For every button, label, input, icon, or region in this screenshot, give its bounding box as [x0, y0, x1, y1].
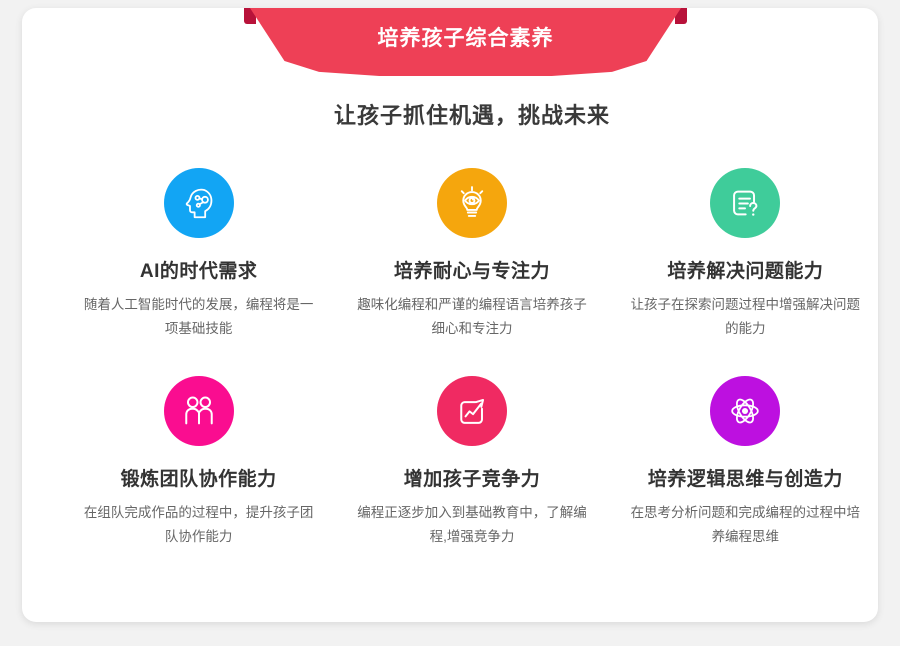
feature-card-focus: 培养耐心与专注力 趣味化编程和严谨的编程语言培养孩子细心和专注力 [335, 168, 608, 376]
page-subtitle: 让孩子抓住机遇，挑战未来 [22, 98, 900, 130]
document-question-icon-circle [710, 168, 780, 238]
lightbulb-eye-icon-circle [437, 168, 507, 238]
feature-desc: 让孩子在探索问题过程中增强解决问题的能力 [630, 293, 860, 340]
document-question-icon [726, 184, 764, 222]
ai-head-icon [180, 184, 218, 222]
feature-title: 培养耐心与专注力 [394, 256, 550, 283]
page-root: 培养孩子综合素养 让孩子抓住机遇，挑战未来 [0, 0, 900, 646]
feature-title: 锻炼团队协作能力 [121, 464, 277, 491]
feature-card-logic: 培养逻辑思维与创造力 在思考分析问题和完成编程的过程中培养编程思维 [609, 376, 882, 584]
ai-head-icon-circle [164, 168, 234, 238]
atom-icon [726, 392, 764, 430]
feature-desc: 在思考分析问题和完成编程的过程中培养编程思维 [630, 501, 860, 548]
atom-icon-circle [710, 376, 780, 446]
feature-desc: 随着人工智能时代的发展，编程将是一项基础技能 [84, 293, 314, 340]
growth-chart-icon-circle [437, 376, 507, 446]
feature-card-teamwork: 锻炼团队协作能力 在组队完成作品的过程中，提升孩子团队协作能力 [62, 376, 335, 584]
two-people-icon [180, 392, 218, 430]
feature-card-problem-solving: 培养解决问题能力 让孩子在探索问题过程中增强解决问题的能力 [609, 168, 882, 376]
growth-chart-icon [453, 392, 491, 430]
feature-title: 增加孩子竞争力 [404, 464, 541, 491]
feature-desc: 趣味化编程和严谨的编程语言培养孩子细心和专注力 [357, 293, 587, 340]
ribbon-body: 培养孩子综合素养 [250, 8, 681, 76]
feature-desc: 在组队完成作品的过程中，提升孩子团队协作能力 [84, 501, 314, 548]
feature-title: 培养逻辑思维与创造力 [648, 464, 843, 491]
feature-card-competitiveness: 增加孩子竞争力 编程正逐步加入到基础教育中，了解编程,增强竞争力 [335, 376, 608, 584]
feature-card-ai: AI的时代需求 随着人工智能时代的发展，编程将是一项基础技能 [62, 168, 335, 376]
banner-ribbon: 培养孩子综合素养 [244, 8, 687, 78]
feature-desc: 编程正逐步加入到基础教育中，了解编程,增强竞争力 [357, 501, 587, 548]
feature-title: AI的时代需求 [140, 256, 258, 283]
banner-title: 培养孩子综合素养 [378, 22, 554, 52]
feature-grid: AI的时代需求 随着人工智能时代的发展，编程将是一项基础技能 [62, 168, 882, 584]
lightbulb-eye-icon [453, 184, 491, 222]
feature-title: 培养解决问题能力 [667, 256, 823, 283]
two-people-icon-circle [164, 376, 234, 446]
content-card: 培养孩子综合素养 让孩子抓住机遇，挑战未来 [22, 8, 878, 622]
